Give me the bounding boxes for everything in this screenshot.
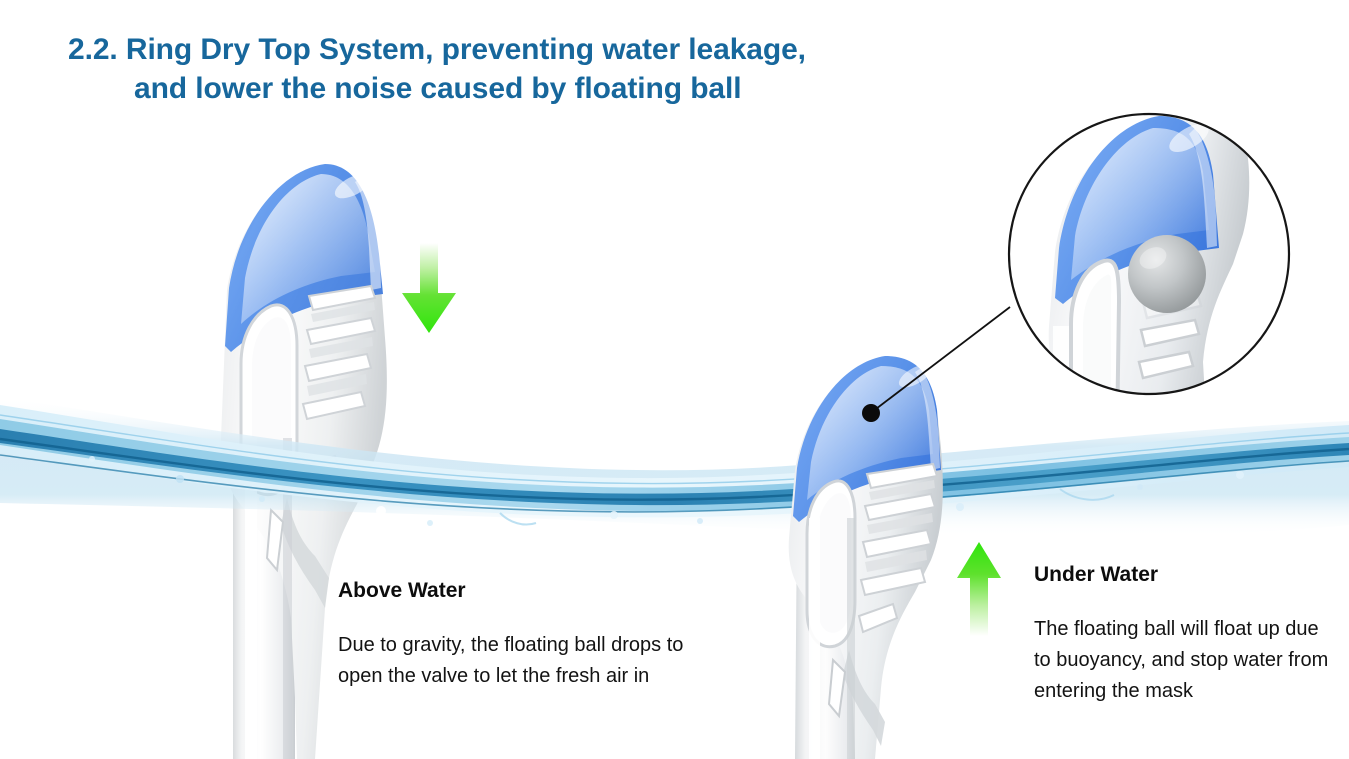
green-up-arrow	[955, 540, 1003, 638]
callout-above-water-body: Due to gravity, the floating ball drops …	[338, 630, 698, 692]
detail-magnifier-circle	[1007, 112, 1291, 396]
floating-ball	[1128, 235, 1206, 313]
title-line-2: and lower the noise caused by floating b…	[68, 69, 968, 108]
page-title: 2.2. Ring Dry Top System, preventing wat…	[68, 30, 968, 108]
callout-above-water: Above Water Due to gravity, the floating…	[338, 578, 698, 692]
green-down-arrow	[398, 243, 460, 335]
callout-anchor-dot	[862, 404, 880, 422]
water-surface	[0, 395, 1349, 585]
slide-canvas: 2.2. Ring Dry Top System, preventing wat…	[0, 0, 1349, 759]
callout-under-water-heading: Under Water	[1034, 562, 1334, 588]
title-line-1: 2.2. Ring Dry Top System, preventing wat…	[68, 30, 968, 69]
callout-under-water: Under Water The floating ball will float…	[1034, 562, 1334, 707]
callout-under-water-body: The floating ball will float up due to b…	[1034, 614, 1334, 707]
callout-above-water-heading: Above Water	[338, 578, 698, 604]
